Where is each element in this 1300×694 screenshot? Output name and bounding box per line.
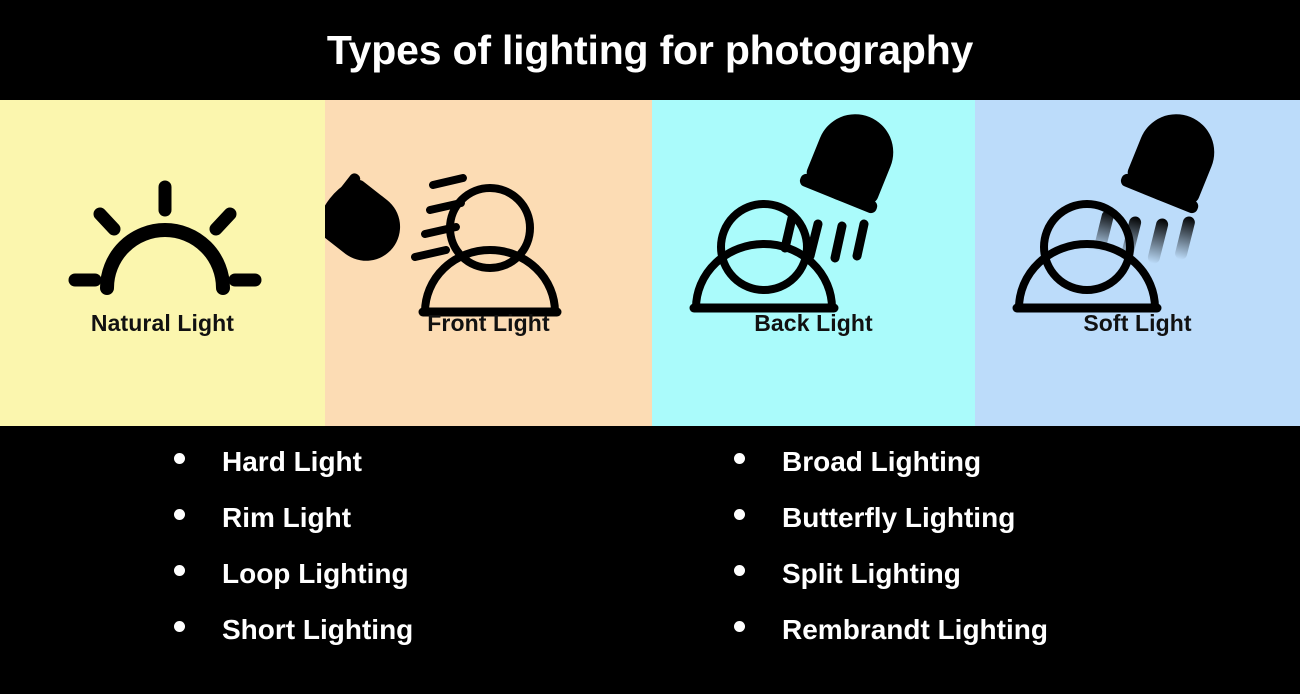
panel-front-light[interactable]: Front Light [325, 100, 652, 426]
list-item-label: Rim Light [222, 504, 351, 532]
list-item[interactable]: Rim Light [140, 504, 700, 560]
lamp-front-person-icon [325, 100, 652, 426]
list-item[interactable]: Broad Lighting [700, 448, 1260, 504]
list-item-label: Loop Lighting [222, 560, 409, 588]
panel-back-light[interactable]: Back Light [652, 100, 975, 426]
bullet-icon [734, 509, 745, 520]
list-item-label: Split Lighting [782, 560, 961, 588]
panel-natural-light[interactable]: Natural Light [0, 100, 325, 426]
list-item-label: Butterfly Lighting [782, 504, 1015, 532]
list-item[interactable]: Loop Lighting [140, 560, 700, 616]
list-item-label: Rembrandt Lighting [782, 616, 1048, 644]
panel-soft-light[interactable]: Soft Light [975, 100, 1300, 426]
bullet-icon [174, 565, 185, 576]
lighting-type-panels: Natural Light Front Light [0, 100, 1300, 426]
sun-icon [0, 100, 325, 426]
title-bar: Types of lighting for photography [0, 0, 1300, 100]
list-item[interactable]: Split Lighting [700, 560, 1260, 616]
list-column-left: Hard Light Rim Light Loop Lighting Short… [140, 426, 700, 694]
bullet-icon [734, 621, 745, 632]
list-item-label: Short Lighting [222, 616, 413, 644]
list-item[interactable]: Butterfly Lighting [700, 504, 1260, 560]
lamp-back-person-icon [652, 100, 975, 426]
page-title: Types of lighting for photography [327, 30, 973, 71]
list-item[interactable]: Short Lighting [140, 616, 700, 672]
lighting-technique-lists: Hard Light Rim Light Loop Lighting Short… [0, 426, 1300, 694]
panel-label-back-light: Back Light [652, 312, 975, 335]
bullet-icon [734, 565, 745, 576]
list-column-right: Broad Lighting Butterfly Lighting Split … [700, 426, 1260, 694]
panel-label-natural-light: Natural Light [0, 312, 325, 335]
bullet-icon [174, 509, 185, 520]
list-item[interactable]: Rembrandt Lighting [700, 616, 1260, 672]
list-item-label: Broad Lighting [782, 448, 981, 476]
bullet-icon [174, 453, 185, 464]
list-item-label: Hard Light [222, 448, 362, 476]
panel-label-soft-light: Soft Light [975, 312, 1300, 335]
panel-label-front-light: Front Light [325, 312, 652, 335]
bullet-icon [734, 453, 745, 464]
list-item[interactable]: Hard Light [140, 448, 700, 504]
lamp-soft-person-icon [975, 100, 1300, 426]
bullet-icon [174, 621, 185, 632]
